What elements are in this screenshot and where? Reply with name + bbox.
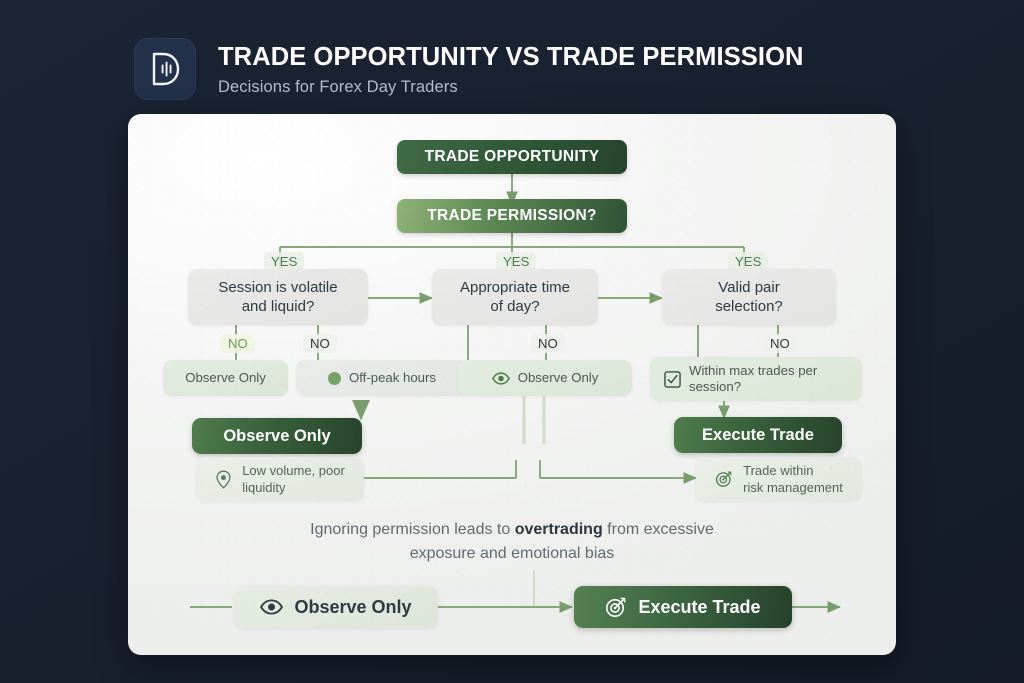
action-execute-trade-label: Execute Trade [702, 426, 814, 445]
checkbox-icon [664, 371, 681, 388]
caption-part2: from excessive [603, 521, 714, 538]
target-icon [605, 596, 627, 618]
caption-emphasis: overtrading [515, 521, 603, 538]
caption-line-1: Ignoring permission leads to overtrading… [128, 518, 896, 542]
pill-off-peak-hours-label: Off-peak hours [349, 370, 436, 387]
node-trade-permission[interactable]: TRADE PERMISSION? [397, 199, 627, 233]
waveform-d-logo-icon [148, 51, 182, 87]
infographic-root: TRADE OPPORTUNITY VS TRADE PERMISSION De… [0, 0, 1024, 683]
decision-1-line2: and liquid? [242, 297, 315, 317]
location-pin-icon [215, 470, 232, 489]
reason-2-line1: Trade within [743, 463, 813, 478]
branch-label-no-1: NO [221, 334, 255, 353]
reason-2-line2: risk management [743, 480, 843, 495]
dot-icon [328, 372, 341, 385]
decision-1-line1: Session is volatile [218, 278, 337, 298]
action-observe-only[interactable]: Observe Only [192, 418, 362, 454]
decision-2-line1: Appropriate time [460, 278, 570, 298]
eye-icon [492, 372, 510, 385]
decision-2-line2: of day? [490, 297, 539, 317]
branch-label-no-3: NO [531, 334, 565, 353]
caption-line-2: exposure and emotional bias [128, 542, 896, 566]
pill-observe-only-2-label: Observe Only [518, 370, 599, 387]
caption: Ignoring permission leads to overtrading… [128, 518, 896, 566]
reason-risk-management[interactable]: Trade within risk management [696, 457, 862, 501]
legend-execute-trade-label: Execute Trade [638, 597, 760, 618]
header: TRADE OPPORTUNITY VS TRADE PERMISSION De… [134, 38, 804, 100]
brand-logo [134, 38, 196, 100]
decision-appropriate-time[interactable]: Appropriate time of day? [432, 269, 598, 325]
reason-low-volume[interactable]: Low volume, poor liquidity [196, 457, 364, 501]
decision-3-line2: selection? [715, 297, 783, 317]
legend-observe-only-label: Observe Only [294, 597, 411, 618]
flowchart-card: TRADE OPPORTUNITY TRADE PERMISSION? YES … [128, 114, 896, 655]
legend-execute-trade[interactable]: Execute Trade [574, 586, 792, 628]
pill-observe-only-1[interactable]: Observe Only [163, 360, 288, 396]
branch-label-no-4: NO [763, 334, 797, 353]
reason-1-line1: Low volume, poor [242, 463, 345, 478]
reason-1-line2: liquidity [242, 480, 285, 495]
pill-within-max-trades[interactable]: Within max trades per session? [650, 357, 862, 401]
decision-valid-pair[interactable]: Valid pair selection? [662, 269, 836, 325]
pill-within-max-trades-label: Within max trades per session? [689, 363, 848, 396]
node-trade-opportunity-label: TRADE OPPORTUNITY [425, 148, 600, 166]
caption-part1: Ignoring permission leads to [310, 521, 515, 538]
eye-icon [260, 599, 283, 615]
pill-off-peak-hours[interactable]: Off-peak hours [296, 360, 468, 396]
target-icon [715, 470, 733, 488]
pill-observe-only-1-label: Observe Only [185, 370, 266, 387]
pill-observe-only-2[interactable]: Observe Only [458, 360, 632, 396]
page-title: TRADE OPPORTUNITY VS TRADE PERMISSION [218, 43, 804, 71]
node-trade-opportunity[interactable]: TRADE OPPORTUNITY [397, 140, 627, 174]
node-trade-permission-label: TRADE PERMISSION? [427, 207, 597, 225]
branch-label-no-2: NO [303, 334, 337, 353]
legend-observe-only[interactable]: Observe Only [234, 586, 438, 628]
action-execute-trade[interactable]: Execute Trade [674, 417, 842, 453]
decision-session-volatile[interactable]: Session is volatile and liquid? [188, 269, 368, 325]
page-subtitle: Decisions for Forex Day Traders [218, 78, 804, 97]
action-observe-only-label: Observe Only [223, 427, 330, 446]
decision-3-line1: Valid pair [718, 278, 779, 298]
